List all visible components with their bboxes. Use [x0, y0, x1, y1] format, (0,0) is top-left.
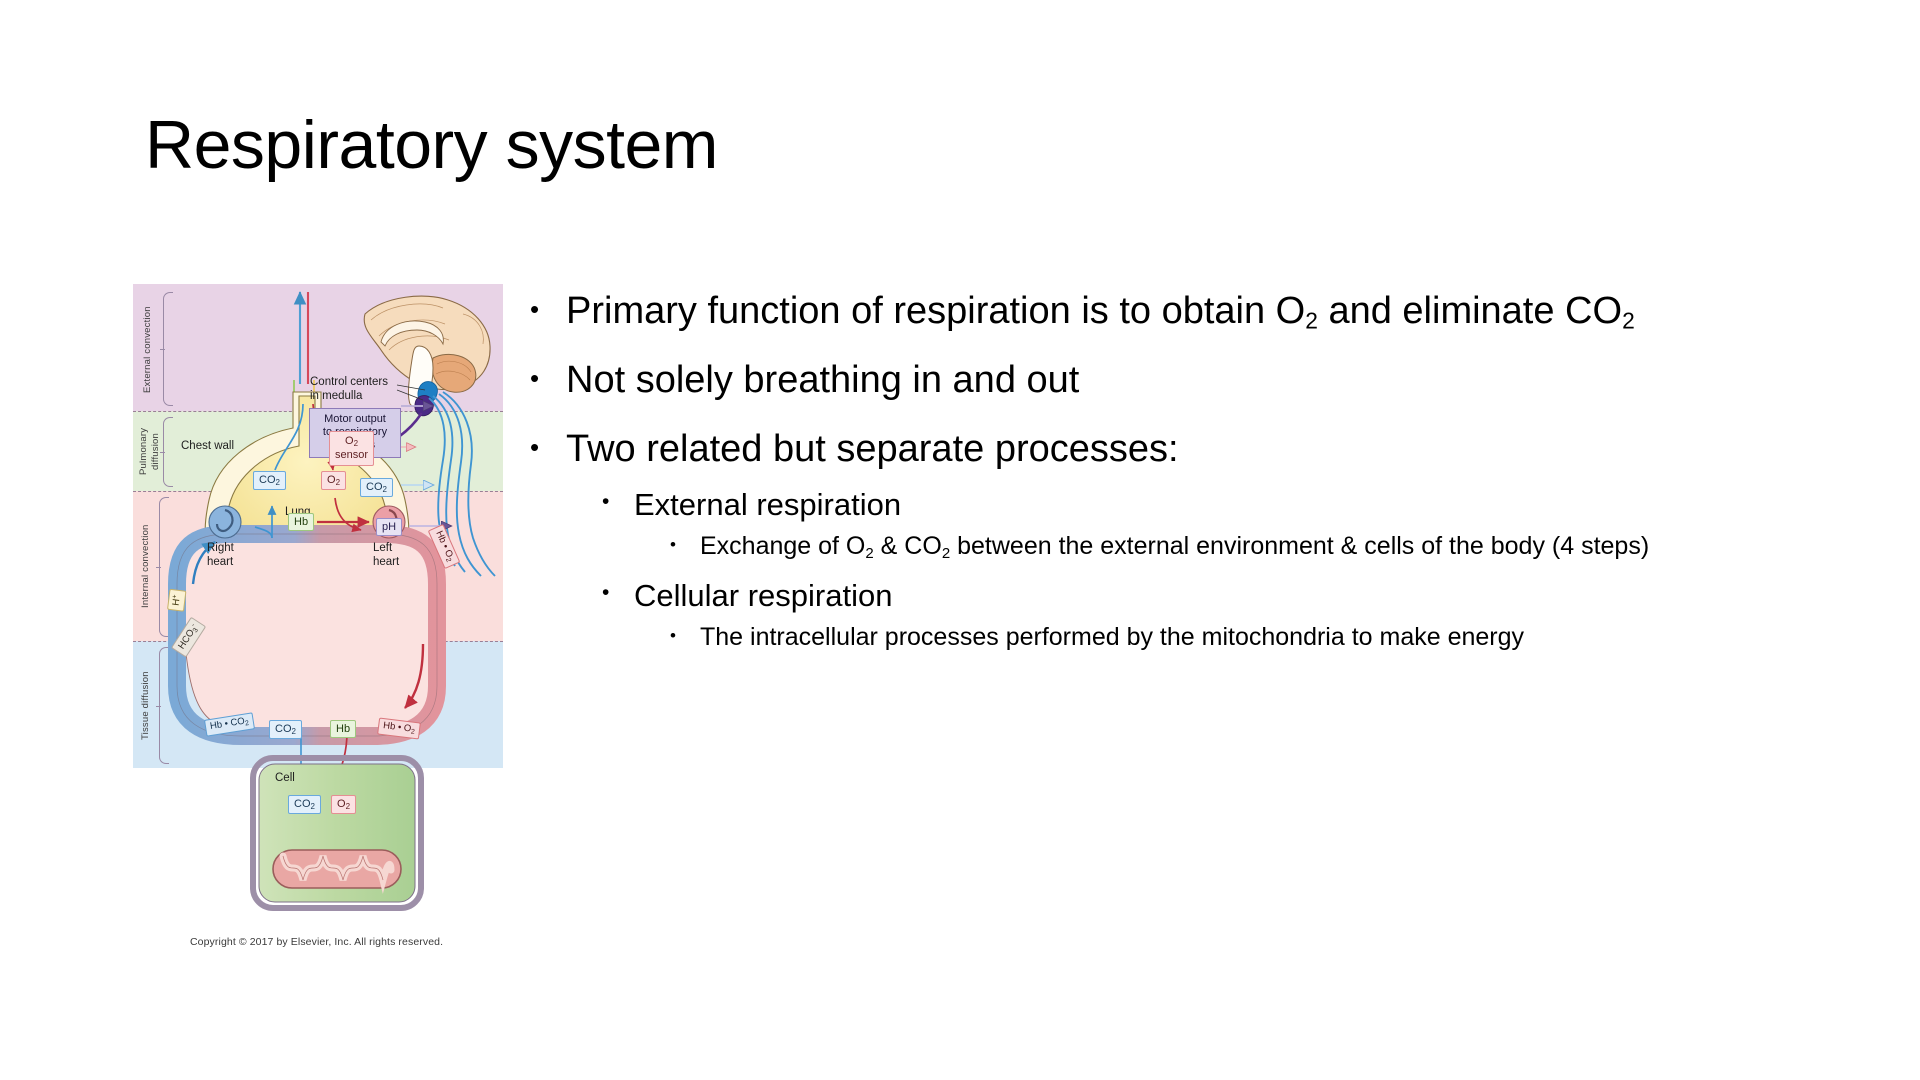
hb-tissue-box: Hb	[330, 720, 356, 738]
bullet-marker: •	[602, 577, 634, 610]
bullet-text: External respiration	[634, 486, 901, 524]
lung-o2-box: O2	[321, 471, 346, 490]
bullet-marker: •	[530, 357, 566, 399]
bullet-item: • Primary function of respiration is to …	[530, 288, 1850, 335]
bullet-text: Two related but separate processes:	[566, 426, 1179, 472]
right-heart-label: Right heart	[207, 542, 234, 570]
blood-circulation-loop	[177, 506, 437, 736]
bullet-marker: •	[670, 621, 700, 651]
slide: Respiratory system External convection P…	[0, 0, 1920, 1080]
chest-wall-label: Chest wall	[181, 440, 234, 453]
o2-sensor-box: O2sensor	[329, 431, 374, 466]
sub-bullet-group: • Cellular respiration • The intracellul…	[530, 577, 1850, 653]
bullet-marker: •	[530, 426, 566, 468]
left-heart-label: Left heart	[373, 542, 399, 570]
left-heart-line2: heart	[373, 556, 399, 568]
bullet-text: Exchange of O2 & CO2 between the externa…	[700, 530, 1649, 563]
bullet-text: Cellular respiration	[634, 577, 892, 615]
bullet-item: • Exchange of O2 & CO2 between the exter…	[670, 530, 1850, 563]
page-title: Respiratory system	[145, 110, 718, 181]
bullet-text: Not solely breathing in and out	[566, 357, 1079, 403]
figure-image: External convection Pulmonary diffusion …	[133, 284, 503, 925]
control-centers-label-line1: Control centers	[310, 376, 388, 389]
ph-sensor-box: pH	[376, 518, 402, 536]
control-centers-label-line2: in medulla	[310, 390, 362, 403]
bullet-text: Primary function of respiration is to ob…	[566, 288, 1635, 335]
bullet-text: The intracellular processes performed by…	[700, 621, 1524, 654]
sub-bullet-group: • External respiration • Exchange of O2 …	[530, 486, 1850, 563]
hplus-chip: H+	[167, 589, 186, 612]
o2-sensor-label: sensor	[335, 449, 368, 461]
co2-sensor-box: CO2	[360, 478, 393, 497]
bullet-item: • Not solely breathing in and out	[530, 357, 1850, 403]
copyright-notice: Copyright © 2017 by Elsevier, Inc. All r…	[190, 936, 520, 948]
cell-label: Cell	[275, 772, 295, 785]
lung-co2-box: CO2	[253, 471, 286, 490]
right-heart-line2: heart	[207, 556, 233, 568]
bullet-item: • The intracellular processes performed …	[670, 621, 1850, 654]
right-heart-line1: Right	[207, 542, 234, 554]
cell-o2-box: O2	[331, 795, 356, 814]
bullet-marker: •	[602, 486, 634, 519]
bullet-item: • Two related but separate processes:	[530, 426, 1850, 472]
motor-output-line1: Motor output	[324, 413, 386, 425]
cell-co2-box: CO2	[288, 795, 321, 814]
slide-body: • Primary function of respiration is to …	[530, 288, 1850, 668]
respiratory-system-figure: External convection Pulmonary diffusion …	[133, 284, 503, 925]
bullet-item: • Cellular respiration	[602, 577, 1850, 615]
hb-pulmonary-box: Hb	[288, 513, 314, 531]
bullet-item: • External respiration	[602, 486, 1850, 524]
tissue-co2-box: CO2	[269, 720, 302, 739]
left-heart-line1: Left	[373, 542, 392, 554]
bullet-marker: •	[530, 288, 566, 330]
brain-illustration	[364, 296, 490, 416]
bullet-marker: •	[670, 530, 700, 560]
